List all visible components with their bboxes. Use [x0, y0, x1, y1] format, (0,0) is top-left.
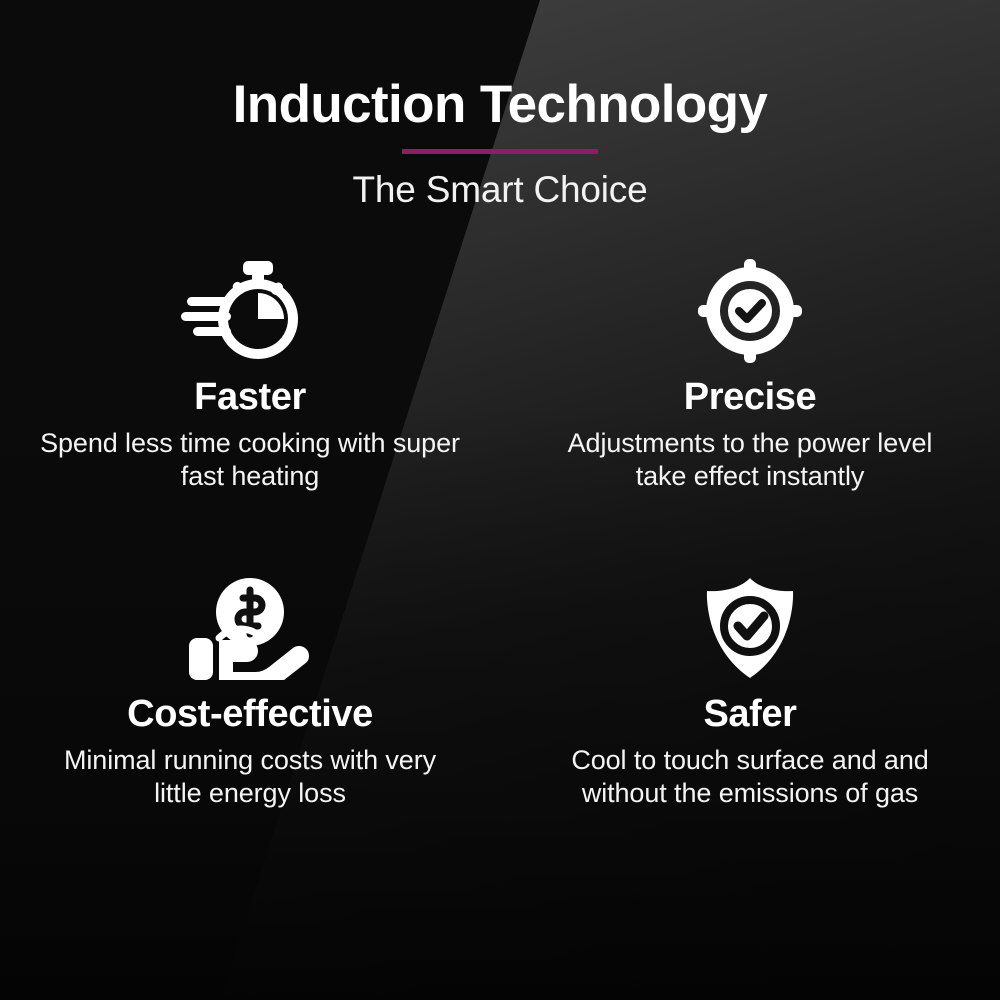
feature-description: Spend less time cooking with super fast …: [40, 427, 460, 494]
page-subtitle: The Smart Choice: [0, 169, 1000, 211]
induction-technology-poster: Induction Technology The Smart Choice: [0, 0, 1000, 1000]
feature-card-precise: Precise Adjustments to the power level t…: [500, 259, 1000, 494]
shield-check-icon: [701, 576, 799, 680]
feature-title: Precise: [684, 377, 816, 419]
poster-content: Induction Technology The Smart Choice: [0, 0, 1000, 1000]
feature-description: Minimal running costs with very little e…: [40, 744, 460, 811]
feature-description: Adjustments to the power level take effe…: [540, 427, 960, 494]
feature-title: Safer: [703, 694, 796, 736]
hand-coin-dollar-icon: [187, 576, 313, 680]
title-divider: [402, 149, 598, 154]
feature-grid: Faster Spend less time cooking with supe…: [0, 259, 1000, 810]
target-check-icon: [698, 259, 802, 363]
feature-card-faster: Faster Spend less time cooking with supe…: [0, 259, 500, 494]
feature-description: Cool to touch surface and and without th…: [540, 744, 960, 811]
feature-title: Cost-effective: [127, 694, 373, 736]
poster-header: Induction Technology The Smart Choice: [0, 0, 1000, 211]
stopwatch-speed-icon: [181, 259, 319, 363]
page-title: Induction Technology: [0, 78, 1000, 132]
feature-card-cost-effective: Cost-effective Minimal running costs wit…: [0, 576, 500, 811]
feature-card-safer: Safer Cool to touch surface and and with…: [500, 576, 1000, 811]
feature-title: Faster: [194, 377, 306, 419]
